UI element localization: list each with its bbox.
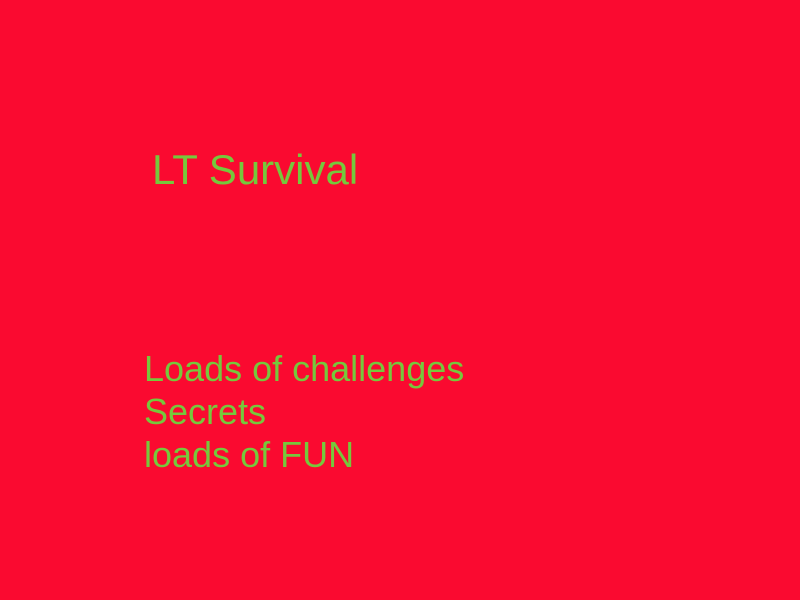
title-placeholder[interactable]: LT Survival (152, 148, 712, 204)
slide-canvas: LT Survival Loads of challenges Secrets … (0, 0, 800, 600)
body-line-1: Loads of challenges (144, 347, 744, 390)
page-title: LT Survival (152, 148, 712, 192)
body-line-3: loads of FUN (144, 433, 744, 476)
body-line-2: Secrets (144, 390, 744, 433)
body-placeholder[interactable]: Loads of challenges Secrets loads of FUN (144, 347, 744, 497)
